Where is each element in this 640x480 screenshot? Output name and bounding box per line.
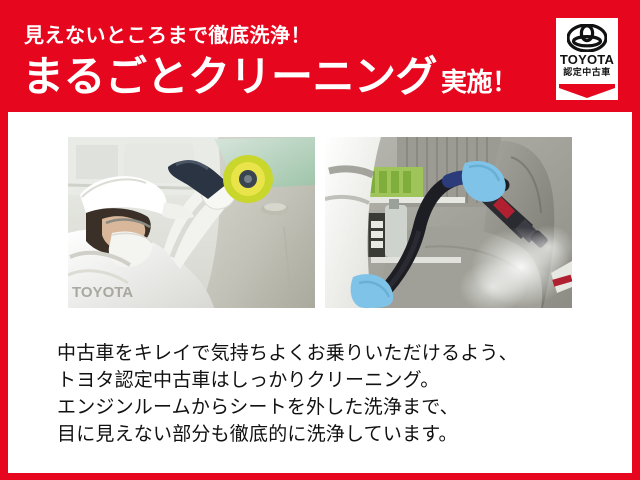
- body-line: エンジンルームからシートを外した洗浄まで、: [57, 394, 597, 421]
- promo-banner: 見えないところまで徹底洗浄！ まるごとクリーニング 実施！ TOYOTA 認定中…: [0, 0, 640, 480]
- badge-brand-text: TOYOTA: [556, 53, 618, 66]
- badge-red-chevron-icon: [556, 82, 618, 100]
- badge-inner: TOYOTA 認定中古車: [556, 18, 618, 100]
- body-copy: 中古車をキレイで気持ちよくお乗りいただけるよう、 トヨタ認定中古車はしっかりクリ…: [57, 340, 597, 448]
- headline: まるごとクリーニング 実施！: [22, 56, 518, 98]
- badge-certification-text: 認定中古車: [556, 68, 618, 77]
- photo-exterior-polishing: TOYOTA: [68, 137, 315, 308]
- toyota-ellipse-emblem-icon: [567, 24, 607, 52]
- headline-main-text: まるごとクリーニング: [22, 56, 437, 98]
- headline-sub-text: 実施！: [441, 69, 518, 95]
- photo-interior-steam-cleaning: [325, 137, 572, 308]
- header-band: 見えないところまで徹底洗浄！ まるごとクリーニング 実施！ TOYOTA 認定中…: [0, 0, 640, 112]
- toyota-certified-badge: TOYOTA 認定中古車: [556, 18, 618, 100]
- body-line: 中古車をキレイで気持ちよくお乗りいただけるよう、: [57, 340, 597, 367]
- kicker-text: 見えないところまで徹底洗浄！: [24, 26, 311, 46]
- body-line: 目に見えない部分も徹底的に洗浄しています。: [57, 421, 597, 448]
- body-line: トヨタ認定中古車はしっかりクリーニング。: [57, 367, 597, 394]
- photo-row: TOYOTA: [68, 137, 572, 308]
- svg-text:TOYOTA: TOYOTA: [72, 284, 133, 301]
- content-panel: TOYOTA: [8, 112, 632, 473]
